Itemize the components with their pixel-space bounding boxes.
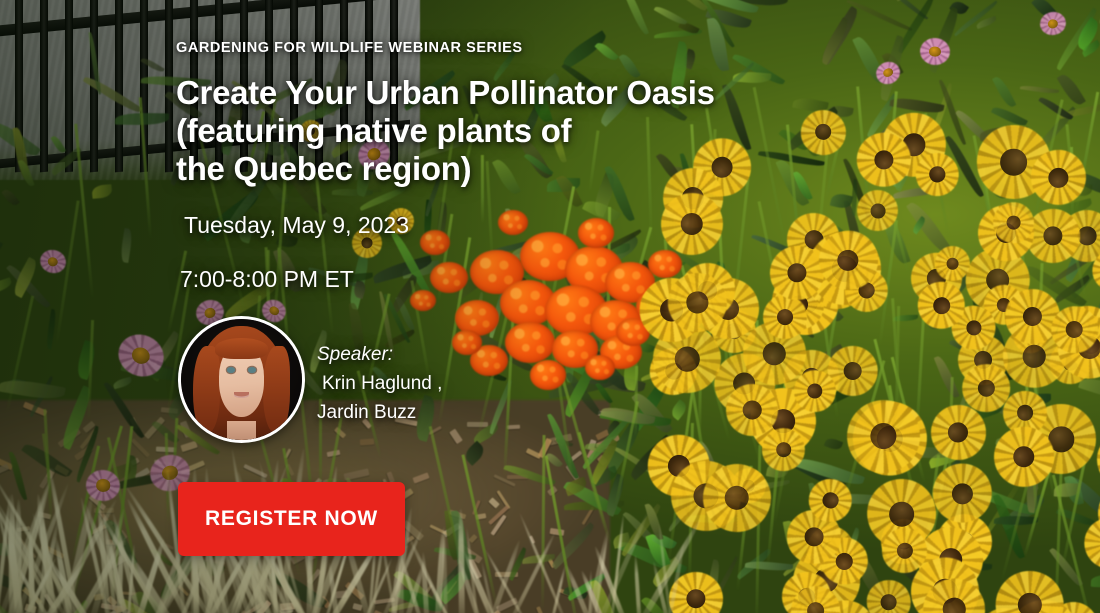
speaker-avatar — [178, 316, 305, 443]
speaker-info: Speaker: Krin Haglund , Jardin Buzz — [317, 340, 442, 427]
page-title: Create Your Urban Pollinator Oasis (feat… — [176, 74, 715, 188]
event-datetime: Tuesday, May 9, 2023 7:00-8:00 PM ET — [180, 209, 409, 295]
event-date: Tuesday, May 9, 2023 — [180, 209, 409, 241]
speaker-label: Speaker: — [317, 340, 442, 369]
series-eyebrow: GARDENING FOR WILDLIFE WEBINAR SERIES — [176, 40, 523, 56]
title-line-1: Create Your Urban Pollinator Oasis — [176, 74, 715, 112]
register-now-button[interactable]: REGISTER NOW — [178, 482, 405, 556]
speaker-name: Krin Haglund , — [317, 369, 442, 398]
speaker-organization: Jardin Buzz — [317, 398, 442, 427]
avatar-portrait — [181, 319, 302, 440]
poster-content: GARDENING FOR WILDLIFE WEBINAR SERIES Cr… — [0, 0, 1100, 613]
event-time: 7:00-8:00 PM ET — [180, 263, 409, 295]
title-line-2: (featuring native plants of — [176, 112, 715, 150]
title-line-3: the Quebec region) — [176, 150, 715, 188]
webinar-promo-poster: GARDENING FOR WILDLIFE WEBINAR SERIES Cr… — [0, 0, 1100, 613]
